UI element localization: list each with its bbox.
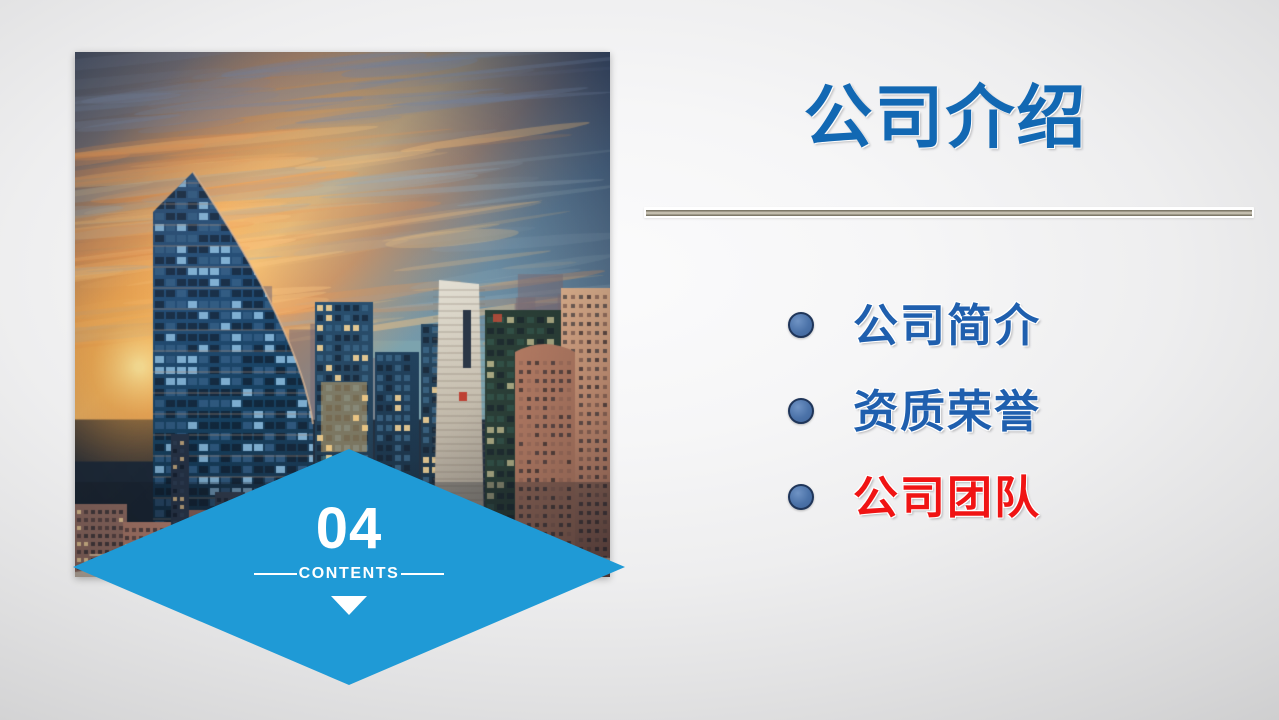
agenda-item-label-1: 公司简介	[853, 303, 1041, 348]
title-divider-bevel	[646, 210, 1252, 216]
bullet-circle-icon	[788, 398, 814, 424]
agenda-item-label-3: 公司团队	[853, 475, 1041, 520]
list-item[interactable]: 资质荣誉	[788, 368, 1248, 454]
cityscape-photo	[75, 52, 610, 577]
page-title: 公司介绍	[640, 82, 1251, 154]
presentation-slide: 04 CONTENTS 公司介绍 公司简介 资质荣誉	[0, 0, 1279, 720]
list-item[interactable]: 公司简介	[788, 282, 1248, 368]
title-divider	[644, 207, 1254, 218]
list-item[interactable]: 公司团队	[788, 454, 1248, 540]
right-column: 公司介绍 公司简介 资质荣誉 公司团队	[640, 0, 1279, 720]
bullet-circle-icon	[788, 484, 814, 510]
agenda-list: 公司简介 资质荣誉 公司团队	[788, 282, 1248, 540]
caret-down-icon	[331, 596, 367, 615]
agenda-item-label-2: 资质荣誉	[853, 389, 1041, 434]
cityscape-photo-panel	[75, 52, 610, 577]
bullet-circle-icon	[788, 312, 814, 338]
